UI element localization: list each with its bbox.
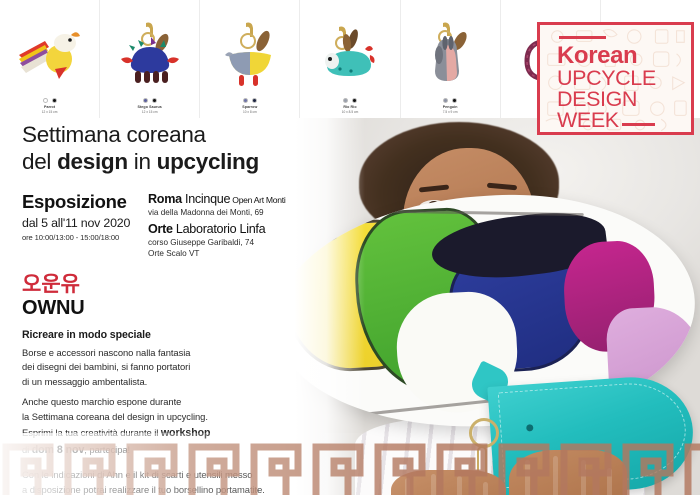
swatches-penguin xyxy=(443,98,457,103)
venue-roma-name: Roma Incinque Open Art Monti xyxy=(148,192,322,207)
badge-week-underline xyxy=(622,123,655,126)
charm-parrot-image xyxy=(15,21,85,95)
venue-roma: Roma Incinque Open Art Monti via della M… xyxy=(148,192,322,218)
venue-orte-address-1: corso Giuseppe Garibaldi, 74 xyxy=(148,237,322,248)
product-size: 10 x 8.5 cm xyxy=(342,110,358,114)
page-title: Settimana coreana del design in upcyclin… xyxy=(22,122,322,175)
venue-orte: Orte Laboratorio Linfa corso Giuseppe Ga… xyxy=(148,222,322,259)
brand-block: 오운유 OWNU xyxy=(22,274,322,319)
swatch xyxy=(52,98,57,103)
exposition-left: Esposizione dal 5 all'11 nov 2020 ore 10… xyxy=(22,191,148,242)
venue-orte-name: Orte Laboratorio Linfa xyxy=(148,222,322,237)
charm-stego-saurus-image xyxy=(115,21,185,95)
badge-week-row: WEEK xyxy=(557,110,691,131)
product-size: 12 x 15 cm xyxy=(42,110,58,114)
product-size: 7.5 x 9 cm xyxy=(443,110,458,114)
body-p2-l1: Anche questo marchio espone durante xyxy=(22,396,181,407)
swatch xyxy=(443,98,448,103)
venues-list: Roma Incinque Open Art Monti via della M… xyxy=(148,191,322,259)
charm-rio-rio-image xyxy=(315,21,385,95)
product-cell-rio-rio[interactable]: Rio Rio 10 x 8.5 cm xyxy=(300,0,400,118)
swatch xyxy=(43,98,48,103)
product-cell-sparrow[interactable]: Sparrow 10 x 8 cm xyxy=(200,0,300,118)
brand-korean-logo: 오운유 xyxy=(22,274,322,296)
exposition-block: Esposizione dal 5 all'11 nov 2020 ore 10… xyxy=(22,191,322,259)
headline-line-2: del design in upcycling xyxy=(22,149,322,176)
greek-key-left-fade xyxy=(0,433,700,495)
swatch xyxy=(452,98,457,103)
swatch xyxy=(243,98,248,103)
badge-korean-word: Korean xyxy=(557,44,691,68)
swatch xyxy=(352,98,357,103)
venue-roma-place: Incinque xyxy=(182,192,230,206)
korean-upcycle-design-week-badge[interactable]: Korean UPCYCLE DESIGN WEEK xyxy=(537,22,694,135)
swatches-sparrow xyxy=(243,98,257,103)
charm-penguin-image xyxy=(415,21,485,95)
swatches-stego-saurus xyxy=(143,98,157,103)
body-p2-l2: la Settimana coreana del design in upcyc… xyxy=(22,411,208,422)
headline-design: design xyxy=(57,149,128,174)
headline-line-1: Settimana coreana xyxy=(22,122,206,147)
exposition-title: Esposizione xyxy=(22,191,148,213)
badge-design-word: DESIGN xyxy=(557,89,691,110)
body-p1-l3: di un messaggio ambentalista. xyxy=(22,376,147,387)
swatch xyxy=(152,98,157,103)
venue-orte-city: Orte xyxy=(148,222,173,236)
venue-roma-extra: Open Art Monti xyxy=(230,195,285,205)
badge-top-rule xyxy=(559,36,606,39)
brand-latin-logo: OWNU xyxy=(22,297,322,319)
body-p1-l1: Borse e accessori nascono nalla fantasia xyxy=(22,347,190,358)
venue-orte-address-2: Orte Scalo VT xyxy=(148,248,322,259)
poster-root: Parrot 12 x 15 cm xyxy=(0,0,700,495)
headline-in: in xyxy=(128,149,157,174)
product-cell-parrot[interactable]: Parrot 12 x 15 cm xyxy=(0,0,100,118)
product-cell-stego-saurus[interactable]: Stego Saurus 12 x 15 cm xyxy=(100,0,200,118)
charm-sparrow-image xyxy=(215,21,285,95)
child-brow-left xyxy=(419,184,449,192)
venue-roma-city: Roma xyxy=(148,192,182,206)
headline-del: del xyxy=(22,149,57,174)
headline-upcycling: upcycling xyxy=(157,149,259,174)
swatch xyxy=(252,98,257,103)
swatch xyxy=(143,98,148,103)
badge-upcycle-word: UPCYCLE xyxy=(557,68,691,89)
product-cell-penguin[interactable]: Penguin 7.5 x 9 cm xyxy=(401,0,501,118)
body-heading: Ricreare in modo speciale xyxy=(22,329,290,341)
swatches-parrot xyxy=(43,98,57,103)
product-size: 12 x 15 cm xyxy=(142,110,158,114)
child-brow-right xyxy=(487,183,517,191)
swatch xyxy=(343,98,348,103)
product-size: 10 x 8 cm xyxy=(243,110,257,114)
swatches-rio-rio xyxy=(343,98,357,103)
exposition-dates: dal 5 all'11 nov 2020 xyxy=(22,216,148,230)
body-p1-l2: dei disegni dei bambini, si fanno portat… xyxy=(22,361,190,372)
venue-orte-place: Laboratorio Linfa xyxy=(173,222,266,236)
exposition-hours: ore 10:00/13:00 - 15:00/18:00 xyxy=(22,233,148,242)
venue-roma-address: via della Madonna dei Monti, 69 xyxy=(148,207,322,218)
badge-week-word: WEEK xyxy=(557,110,619,131)
body-paragraph-1: Borse e accessori nascono nalla fantasia… xyxy=(22,346,290,391)
